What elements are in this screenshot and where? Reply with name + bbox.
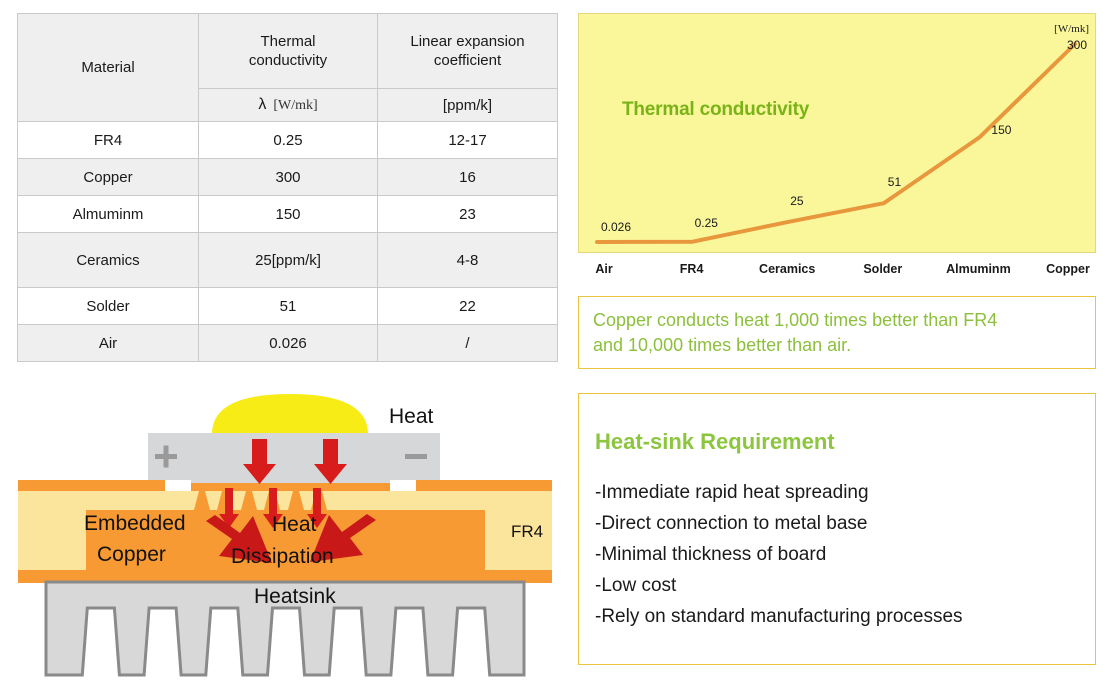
- led-thermal-pad: [191, 474, 390, 483]
- table-body: FR40.2512-17Copper30016Almuminm15023Cera…: [18, 122, 558, 362]
- chart-unit-label: [W/mk]: [1054, 23, 1089, 35]
- copper-conductivity-note: Copper conducts heat 1,000 times better …: [578, 296, 1096, 369]
- copper-note-line2: and 10,000 times better than air.: [593, 333, 1081, 358]
- label-heat: Heat: [389, 405, 433, 429]
- chart-point-label: 51: [888, 175, 901, 189]
- requirement-item: -Rely on standard manufacturing processe…: [595, 601, 1095, 632]
- chart-x-tick-label: Almuminm: [946, 262, 1011, 276]
- label-heat-dissipation-line1: Heat: [272, 513, 316, 537]
- header-material: Material: [18, 14, 199, 122]
- cell-expansion: /: [378, 325, 558, 362]
- chart-x-tick-label: Air: [595, 262, 612, 276]
- table-row: Copper30016: [18, 159, 558, 196]
- cell-conductivity: 51: [199, 288, 378, 325]
- chart-x-tick-label: Solder: [863, 262, 902, 276]
- requirements-list: -Immediate rapid heat spreading-Direct c…: [595, 477, 1095, 632]
- table-row: FR40.2512-17: [18, 122, 558, 159]
- chart-x-tick-label: FR4: [680, 262, 704, 276]
- cell-expansion: 4-8: [378, 233, 558, 288]
- chart-line-svg: [579, 14, 1097, 254]
- table-row: Air0.026/: [18, 325, 558, 362]
- chart-point-label: 0.25: [695, 216, 718, 230]
- requirement-item: -Low cost: [595, 570, 1095, 601]
- requirement-item: -Direct connection to metal base: [595, 508, 1095, 539]
- chart-point-label: 25: [790, 194, 803, 208]
- cell-expansion: 16: [378, 159, 558, 196]
- header-thermal-conductivity-line2: conductivity: [199, 51, 377, 70]
- lambda-unit: [W/mk]: [273, 98, 317, 113]
- header-thermal-conductivity-line1: Thermal: [199, 32, 377, 51]
- pad-gap-left: [165, 480, 191, 491]
- chart-point-label: 150: [991, 123, 1011, 137]
- cell-conductivity: 25[ppm/k]: [199, 233, 378, 288]
- cell-material: Solder: [18, 288, 199, 325]
- table-row: Almuminm15023: [18, 196, 558, 233]
- header-linear-expansion-line1: Linear expansion: [378, 32, 557, 51]
- cell-material: FR4: [18, 122, 199, 159]
- cell-expansion: 22: [378, 288, 558, 325]
- table-head: Material Thermal conductivity Linear exp…: [18, 14, 558, 122]
- chart-series-line: [597, 44, 1075, 242]
- requirement-item: -Minimal thickness of board: [595, 539, 1095, 570]
- chart-x-tick-label: Copper: [1046, 262, 1090, 276]
- copper-note-line1: Copper conducts heat 1,000 times better …: [593, 308, 1081, 333]
- chart-point-label: 300: [1067, 38, 1087, 52]
- led-heatsink-cross-section-diagram: Heat Embedded Copper Heat Dissipation FR…: [0, 382, 570, 679]
- cell-material: Ceramics: [18, 233, 199, 288]
- cell-expansion: 12-17: [378, 122, 558, 159]
- cathode-minus-icon: [405, 454, 427, 459]
- requirements-title: Heat-sink Requirement: [595, 429, 1095, 455]
- cell-material: Copper: [18, 159, 199, 196]
- chart-point-label: 0.026: [601, 220, 631, 234]
- label-embedded-copper-line1: Embedded: [84, 512, 186, 536]
- chart-x-tick-label: Ceramics: [759, 262, 815, 276]
- header-linear-expansion: Linear expansion coefficient: [378, 14, 558, 89]
- header-unit-ppm: [ppm/k]: [378, 89, 558, 122]
- chart-x-axis-labels: AirFR4CeramicsSolderAlmuminmCopper: [578, 262, 1096, 284]
- label-fr4: FR4: [511, 522, 543, 542]
- header-linear-expansion-line2: coefficient: [378, 51, 557, 70]
- label-embedded-copper-line2: Copper: [97, 543, 166, 567]
- cell-material: Almuminm: [18, 196, 199, 233]
- cell-expansion: 23: [378, 196, 558, 233]
- requirement-item: -Immediate rapid heat spreading: [595, 477, 1095, 508]
- cell-material: Air: [18, 325, 199, 362]
- heat-sink-requirement-box: Heat-sink Requirement -Immediate rapid h…: [578, 393, 1096, 665]
- table-row: Ceramics25[ppm/k]4-8: [18, 233, 558, 288]
- chart-plot-area: [W/mk] Thermal conductivity 0.0260.25255…: [578, 13, 1096, 253]
- pad-gap-right: [390, 480, 416, 491]
- led-package-body: [148, 433, 440, 480]
- table-row: Solder5122: [18, 288, 558, 325]
- header-thermal-conductivity: Thermal conductivity: [199, 14, 378, 89]
- thermal-conductivity-chart: [W/mk] Thermal conductivity 0.0260.25255…: [578, 13, 1096, 253]
- header-unit-lambda: λ [W/mk]: [199, 89, 378, 122]
- cell-conductivity: 150: [199, 196, 378, 233]
- cell-conductivity: 0.026: [199, 325, 378, 362]
- label-heat-dissipation-line2: Dissipation: [231, 545, 334, 569]
- table-header-row-main: Material Thermal conductivity Linear exp…: [18, 14, 558, 89]
- chart-title: Thermal conductivity: [622, 99, 809, 121]
- led-phosphor-dome: [212, 394, 368, 434]
- cell-conductivity: 0.25: [199, 122, 378, 159]
- material-properties-table: Material Thermal conductivity Linear exp…: [17, 13, 558, 362]
- label-heatsink: Heatsink: [254, 585, 336, 609]
- cell-conductivity: 300: [199, 159, 378, 196]
